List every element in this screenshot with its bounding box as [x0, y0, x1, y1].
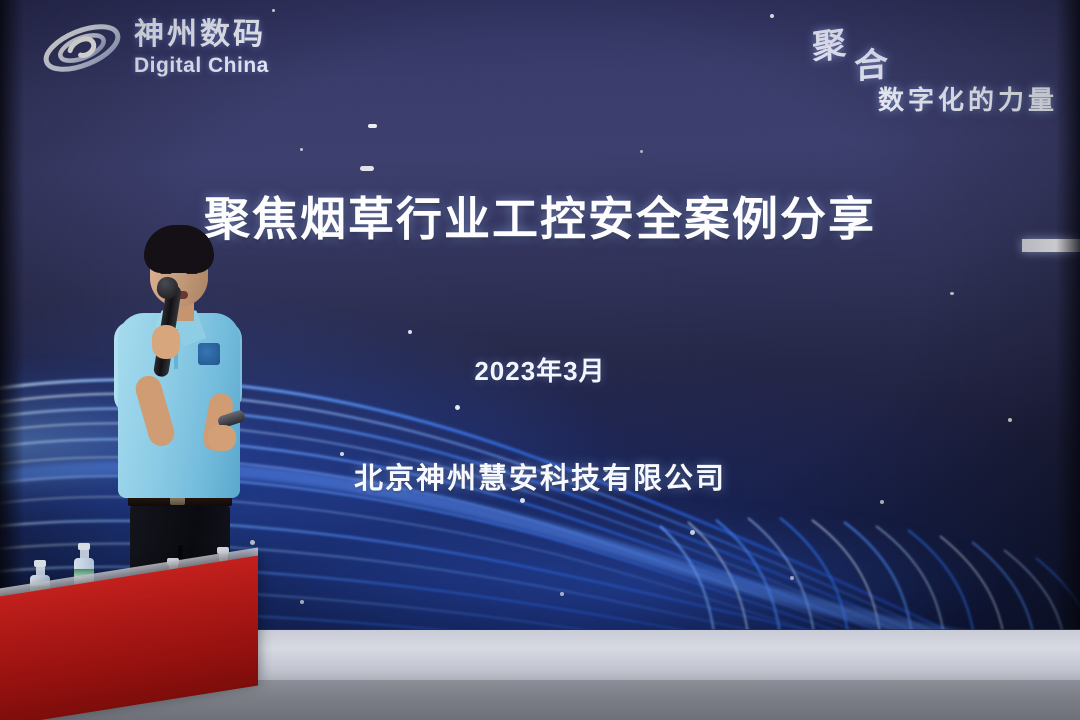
company-emblem-icon [198, 343, 220, 365]
logo-name-en: Digital China [134, 55, 269, 76]
digital-china-logo: 神州数码 Digital China [40, 16, 269, 80]
screen-edge-right [1056, 0, 1080, 632]
calligraphy-char-ju: 聚 [811, 15, 846, 70]
digital-china-wordmark: 神州数码 Digital China [134, 20, 269, 76]
event-brand-mark: 聚 合 数字化的力量 [808, 18, 1058, 118]
screen-edge-left [0, 0, 24, 632]
conference-photo-stage: 神州数码 Digital China 聚 合 数字化的力量 聚焦烟草行业工控安全… [0, 0, 1080, 720]
bottle-cap [34, 560, 46, 567]
event-tagline: 数字化的力量 [878, 80, 1058, 117]
bottle-cap [78, 543, 90, 550]
speaker-hand-left [152, 325, 180, 359]
logo-name-cn: 神州数码 [134, 20, 269, 50]
digital-china-swirl-icon [40, 16, 124, 80]
bottle-neck [80, 550, 89, 558]
bottle-neck [36, 567, 45, 575]
juhe-calligraphy: 聚 合 [810, 18, 930, 80]
speaker-hair [144, 225, 214, 273]
speaker-hand-right [208, 425, 236, 451]
